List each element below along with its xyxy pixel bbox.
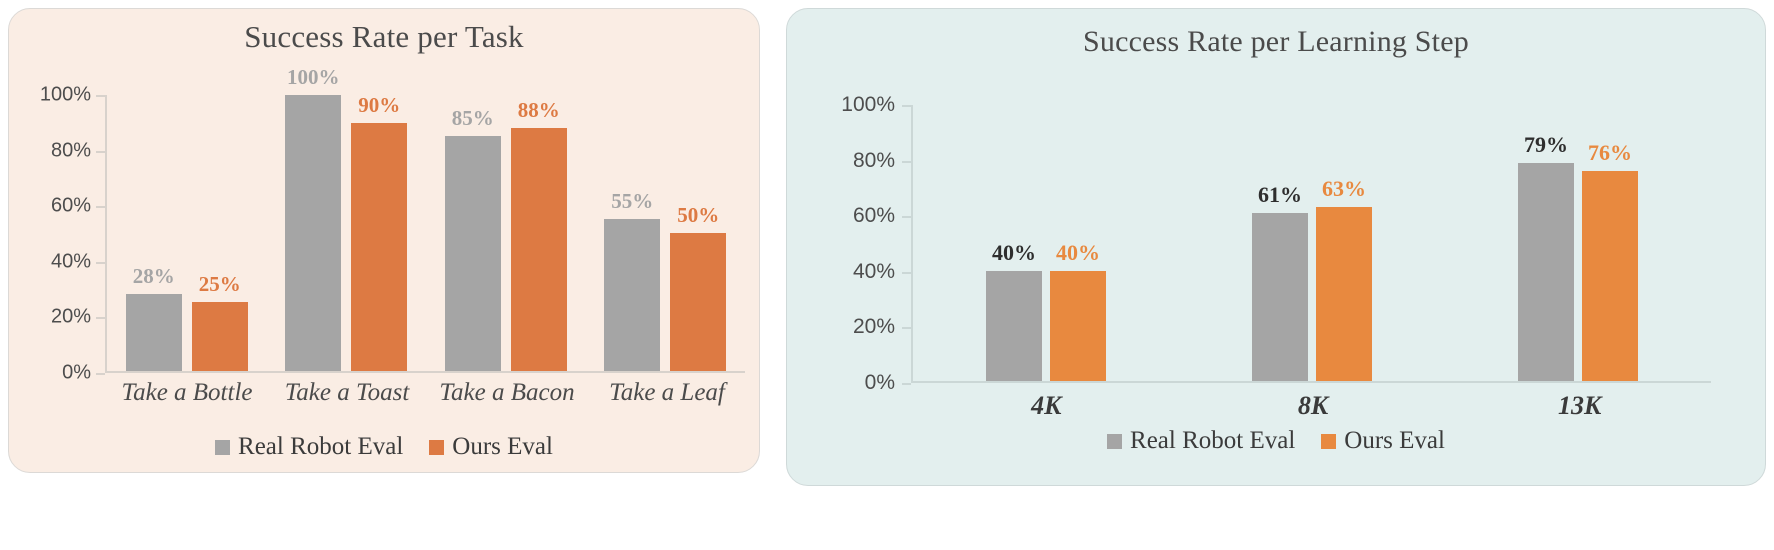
bar-group: 61%63% — [1179, 105, 1445, 381]
legend-swatch-icon-real-robot-eval — [215, 440, 230, 455]
y-axis-tick-label: 20% — [51, 306, 91, 329]
plot-area-left: 100%80%60%40%20%0% 28%25%100%90%85%88%55… — [105, 95, 745, 373]
bar-pair: 28%25% — [126, 95, 248, 371]
legend-item-real-robot-eval[interactable]: Real Robot Eval — [1107, 427, 1295, 455]
category-label: Take a Bottle — [107, 379, 267, 407]
page-title-left: Success Rate per Task — [9, 9, 759, 55]
bar-value-label: 63% — [1322, 176, 1366, 202]
chart-panel-success-rate-per-task: Success Rate per Task 100%80%60%40%20%0%… — [8, 8, 760, 473]
y-axis-tick-label: 40% — [853, 260, 895, 284]
y-axis-tick-label: 80% — [51, 139, 91, 162]
bar-real-robot-eval[interactable]: 40% — [986, 271, 1042, 381]
bar-value-label: 28% — [133, 264, 175, 289]
y-axis-tick — [96, 95, 105, 97]
bar-real-robot-eval[interactable]: 28% — [126, 294, 182, 371]
bar-ours-eval[interactable]: 76% — [1582, 171, 1638, 381]
page-title-right: Success Rate per Learning Step — [787, 9, 1765, 59]
y-axis-tick-label: 40% — [51, 250, 91, 273]
bar-group: 28%25% — [107, 95, 267, 371]
category-label: 13K — [1446, 391, 1713, 421]
y-axis-tick-label: 80% — [853, 149, 895, 173]
bar-ours-eval[interactable]: 40% — [1050, 271, 1106, 381]
category-labels: Take a BottleTake a ToastTake a BaconTak… — [107, 379, 747, 407]
y-axis-tick-label: 0% — [865, 371, 895, 395]
bar-ours-eval[interactable]: 88% — [511, 128, 567, 371]
legend-right: Real Robot Eval Ours Eval — [787, 427, 1765, 455]
bar-ours-eval[interactable]: 90% — [351, 123, 407, 371]
category-label: Take a Bacon — [427, 379, 587, 407]
y-axis-tick — [902, 216, 911, 218]
legend-label-ours-eval: Ours Eval — [1344, 427, 1445, 455]
bar-value-label: 40% — [1056, 240, 1100, 266]
bar-pair: 79%76% — [1518, 105, 1638, 381]
bar-pair: 61%63% — [1252, 105, 1372, 381]
legend-swatch-icon-ours-eval — [429, 440, 444, 455]
bar-group: 79%76% — [1445, 105, 1711, 381]
bar-ours-eval[interactable]: 63% — [1316, 207, 1372, 381]
y-axis-tick — [902, 161, 911, 163]
y-axis-tick — [902, 105, 911, 107]
bar-pair: 40%40% — [986, 105, 1106, 381]
bar-real-robot-eval[interactable]: 61% — [1252, 213, 1308, 381]
bar-group: 100%90% — [267, 95, 427, 371]
bar-real-robot-eval[interactable]: 79% — [1518, 163, 1574, 381]
x-axis-baseline — [105, 371, 745, 373]
bar-value-label: 55% — [611, 189, 653, 214]
bar-value-label: 61% — [1258, 182, 1302, 208]
legend-swatch-icon-real-robot-eval — [1107, 434, 1122, 449]
category-label: Take a Leaf — [587, 379, 747, 407]
y-axis-tick — [96, 206, 105, 208]
bar-value-label: 40% — [992, 240, 1036, 266]
y-axis-tick-label: 20% — [853, 315, 895, 339]
bar-pair: 100%90% — [285, 95, 407, 371]
y-axis-tick — [96, 317, 105, 319]
bar-value-label: 88% — [518, 98, 560, 123]
bar-value-label: 76% — [1588, 140, 1632, 166]
bar-value-label: 100% — [287, 65, 340, 90]
bar-value-label: 79% — [1524, 132, 1568, 158]
category-labels: 4K8K13K — [913, 391, 1713, 421]
charts-board: Success Rate per Task 100%80%60%40%20%0%… — [0, 0, 1774, 550]
category-label: 8K — [1180, 391, 1447, 421]
category-label: Take a Toast — [267, 379, 427, 407]
bar-value-label: 90% — [358, 93, 400, 118]
y-axis-tick-label: 60% — [853, 204, 895, 228]
bar-real-robot-eval[interactable]: 55% — [604, 219, 660, 371]
y-axis-tick — [96, 262, 105, 264]
y-axis-tick — [902, 327, 911, 329]
bar-groups: 40%40%61%63%79%76% — [913, 105, 1711, 381]
y-axis-tick-label: 60% — [51, 195, 91, 218]
bar-group: 85%88% — [426, 95, 586, 371]
bar-group: 40%40% — [913, 105, 1179, 381]
bar-value-label: 50% — [677, 203, 719, 228]
bar-real-robot-eval[interactable]: 85% — [445, 136, 501, 371]
legend-item-ours-eval[interactable]: Ours Eval — [1321, 427, 1445, 455]
x-axis-baseline — [911, 381, 1711, 383]
bar-pair: 85%88% — [445, 95, 567, 371]
bar-value-label: 25% — [199, 272, 241, 297]
legend-label-real-robot-eval: Real Robot Eval — [1130, 427, 1295, 455]
chart-panel-success-rate-per-learning-step: Success Rate per Learning Step 100%80%60… — [786, 8, 1766, 486]
bar-ours-eval[interactable]: 50% — [670, 233, 726, 371]
y-axis-tick — [902, 383, 911, 385]
legend-item-real-robot-eval[interactable]: Real Robot Eval — [215, 433, 403, 461]
bar-ours-eval[interactable]: 25% — [192, 302, 248, 371]
bar-pair: 55%50% — [604, 95, 726, 371]
bar-group: 55%50% — [586, 95, 746, 371]
y-axis-tick-label: 100% — [841, 93, 895, 117]
legend-item-ours-eval[interactable]: Ours Eval — [429, 433, 553, 461]
legend-label-real-robot-eval: Real Robot Eval — [238, 433, 403, 461]
y-axis-tick-label: 100% — [40, 84, 91, 107]
plot-area-right: 100%80%60%40%20%0% 40%40%61%63%79%76% — [911, 105, 1711, 383]
category-label: 4K — [913, 391, 1180, 421]
bar-groups: 28%25%100%90%85%88%55%50% — [107, 95, 745, 371]
y-axis-tick — [96, 373, 105, 375]
y-axis-tick-label: 0% — [62, 362, 91, 385]
legend-swatch-icon-ours-eval — [1321, 434, 1336, 449]
y-axis-tick — [902, 272, 911, 274]
legend-label-ours-eval: Ours Eval — [452, 433, 553, 461]
y-axis-tick — [96, 151, 105, 153]
bar-value-label: 85% — [452, 106, 494, 131]
legend-left: Real Robot Eval Ours Eval — [9, 433, 759, 461]
bar-real-robot-eval[interactable]: 100% — [285, 95, 341, 371]
